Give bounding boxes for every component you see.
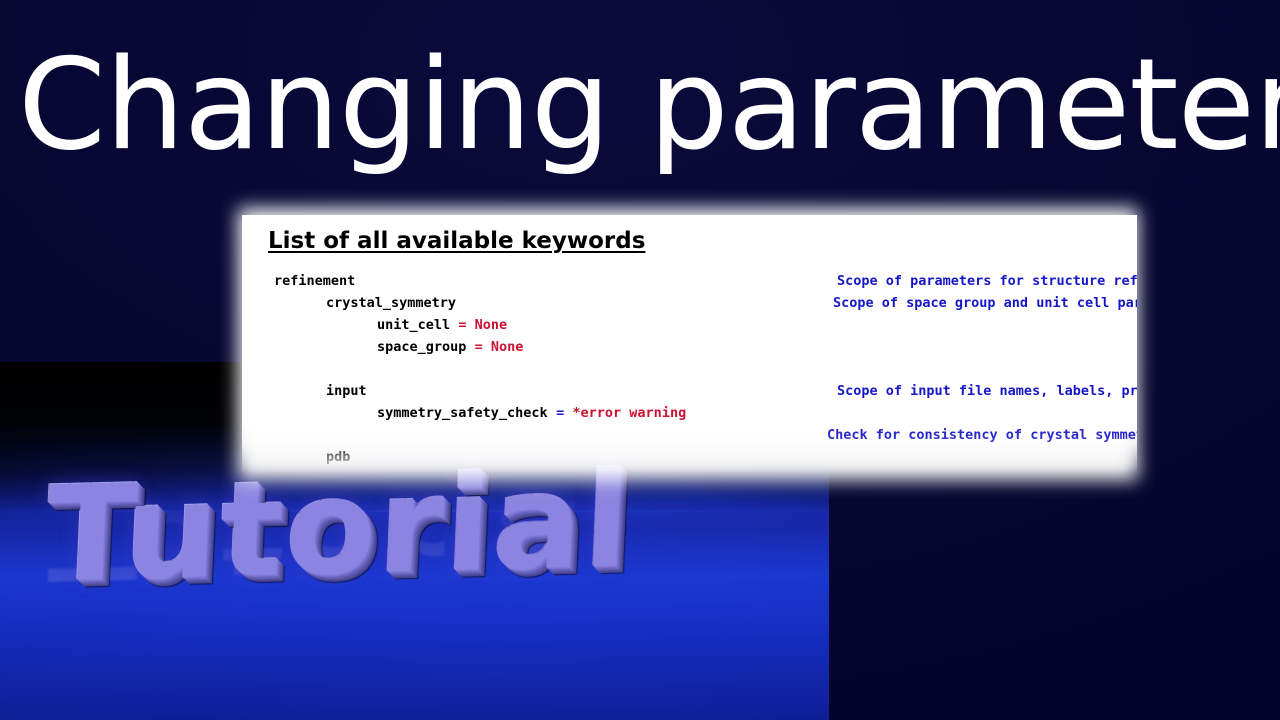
keyword-name: crystal_symmetry [326, 295, 456, 311]
keyword-name: pdb [326, 449, 350, 465]
keyword-line: symmetry_safety_check= *error warning [242, 405, 1137, 427]
keyword-assignment: = None [458, 317, 507, 333]
equals-sign: = [475, 339, 483, 355]
keyword-line-list: refinementScope of parameters for struct… [242, 273, 1137, 473]
keyword-panel-container: List of all available keywords refinemen… [238, 208, 1138, 480]
keyword-value: None [466, 317, 507, 333]
keyword-value: None [483, 339, 524, 355]
keyword-name: space_group [377, 339, 466, 355]
keyword-assignment: = None [475, 339, 524, 355]
page-title: Changing parameters [18, 30, 1268, 180]
keyword-line: crystal_symmetryScope of space group and… [242, 295, 1137, 317]
keyword-line: refinementScope of parameters for struct… [242, 273, 1137, 295]
keyword-description: Model file(s) name (PDB) [827, 471, 1022, 473]
keyword-description: Check for consistency of crystal symmetr… [827, 427, 1137, 443]
keyword-line: inputScope of input file names, labels, … [242, 383, 1137, 405]
keyword-line [242, 361, 1137, 383]
keyword-line: file_name= NoneModel file(s) name (PDB) [242, 471, 1137, 473]
keyword-assignment: = None [510, 471, 559, 473]
keyword-value: *error warning [564, 405, 686, 421]
keyword-value: None [518, 471, 559, 473]
slide-canvas: Changing parameters Tutorial Tutorial Li… [0, 0, 1280, 720]
keyword-description: Scope of space group and unit cell param… [833, 295, 1137, 311]
keyword-name: refinement [274, 273, 355, 289]
keyword-assignment: = *error warning [556, 405, 686, 421]
keyword-name: input [326, 383, 367, 399]
keyword-line: pdb [242, 449, 1137, 471]
keyword-line: unit_cell= None [242, 317, 1137, 339]
keyword-name: symmetry_safety_check [377, 405, 548, 421]
keyword-line: space_group= None [242, 339, 1137, 361]
keyword-line: Check for consistency of crystal symmetr… [242, 427, 1137, 449]
keyword-panel: List of all available keywords refinemen… [242, 215, 1137, 473]
keyword-description: Scope of parameters for structure refine… [837, 273, 1137, 289]
keyword-name: file_name [429, 471, 502, 473]
keyword-name: unit_cell [377, 317, 450, 333]
panel-heading: List of all available keywords [268, 228, 645, 254]
keyword-description: Scope of input file names, labels, proce… [837, 383, 1137, 399]
